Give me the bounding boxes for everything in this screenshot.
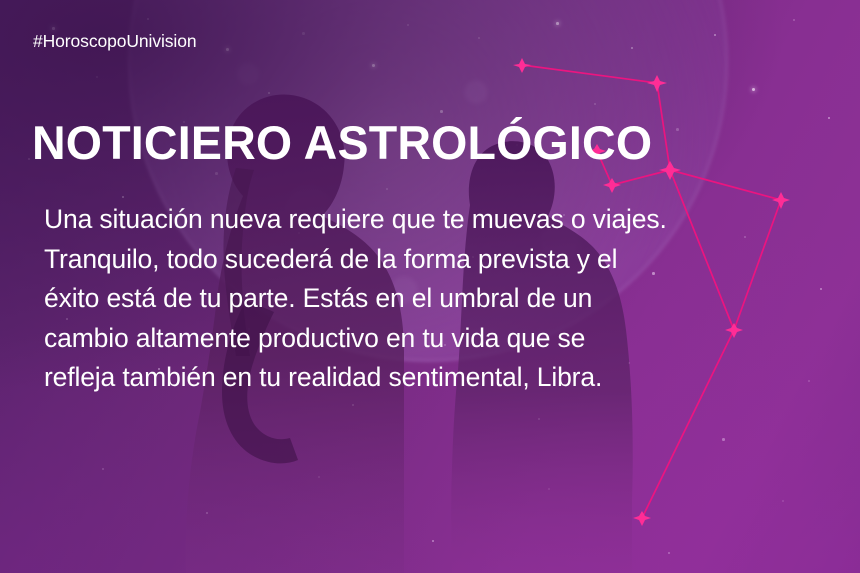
hashtag-label: #HoroscopoUnivision [33,31,196,52]
card-content: #HoroscopoUnivision NOTICIERO ASTROLÓGIC… [0,0,860,573]
page-title: NOTICIERO ASTROLÓGICO [32,119,652,166]
body-line: refleja también en tu realidad sentiment… [44,358,804,398]
horoscope-body: Una situación nueva requiere que te muev… [44,200,804,398]
body-line: éxito está de tu parte. Estás en el umbr… [44,279,804,319]
horoscope-card: #HoroscopoUnivision NOTICIERO ASTROLÓGIC… [0,0,860,573]
body-line: Tranquilo, todo sucederá de la forma pre… [44,240,804,280]
body-line: cambio altamente productivo en tu vida q… [44,319,804,359]
body-line: Una situación nueva requiere que te muev… [44,200,804,240]
